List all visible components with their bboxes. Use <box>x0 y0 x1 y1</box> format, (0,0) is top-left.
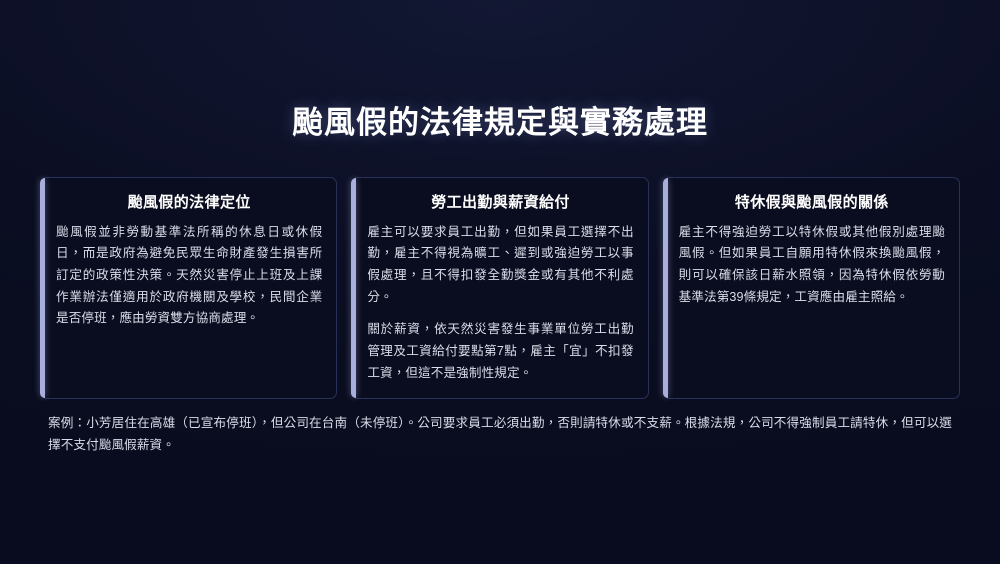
cards-row: 颱風假的法律定位 颱風假並非勞動基準法所稱的休息日或休假日，而是政府為避免民眾生… <box>0 143 1000 400</box>
case-note-text: 案例：小芳居住在高雄（已宣布停班），但公司在台南（未停班）。公司要求員工必須出勤… <box>48 413 952 456</box>
card-paragraph: 關於薪資，依天然災害發生事業單位勞工出勤管理及工資給付要點第7點，雇主「宜」不扣… <box>367 319 633 384</box>
card-legal-position: 颱風假的法律定位 颱風假並非勞動基準法所稱的休息日或休假日，而是政府為避免民眾生… <box>40 177 337 400</box>
card-title: 勞工出勤與薪資給付 <box>367 192 633 213</box>
card-paragraph: 雇主不得強迫勞工以特休假或其他假別處理颱風假。但如果員工自願用特休假來換颱風假，… <box>679 222 945 309</box>
card-title: 特休假與颱風假的關係 <box>679 192 945 213</box>
card-attendance-and-wages: 勞工出勤與薪資給付 雇主可以要求員工出勤，但如果員工選擇不出勤，雇主不得視為曠工… <box>351 177 648 400</box>
title-section: 颱風假的法律規定與實務處理 <box>0 0 1000 143</box>
card-paragraph: 颱風假並非勞動基準法所稱的休息日或休假日，而是政府為避免民眾生命財產發生損害所訂… <box>56 222 322 330</box>
card-accent-bar <box>40 178 45 399</box>
card-accent-bar <box>663 178 668 399</box>
page-title: 颱風假的法律規定與實務處理 <box>0 104 1000 143</box>
card-accent-bar <box>351 178 356 399</box>
card-paragraph: 雇主可以要求員工出勤，但如果員工選擇不出勤，雇主不得視為曠工、遲到或強迫勞工以事… <box>367 222 633 309</box>
card-annual-leave-relation: 特休假與颱風假的關係 雇主不得強迫勞工以特休假或其他假別處理颱風假。但如果員工自… <box>663 177 960 400</box>
slide-root: 颱風假的法律規定與實務處理 颱風假的法律定位 颱風假並非勞動基準法所稱的休息日或… <box>0 0 1000 564</box>
card-title: 颱風假的法律定位 <box>56 192 322 213</box>
case-note-section: 案例：小芳居住在高雄（已宣布停班），但公司在台南（未停班）。公司要求員工必須出勤… <box>0 399 1000 456</box>
